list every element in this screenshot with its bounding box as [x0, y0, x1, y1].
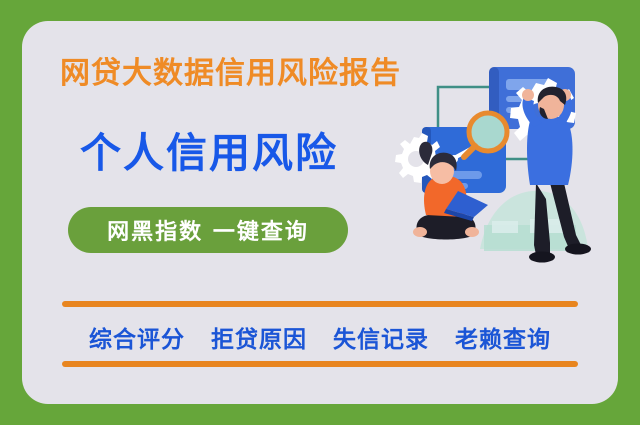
credit-risk-poster: 网贷大数据信用风险报告 个人信用风险 网黑指数 一键查询 综合评分 拒贷原因 失…: [0, 0, 640, 425]
query-cta-label: 网黑指数 一键查询: [107, 214, 309, 246]
page-title: 网贷大数据信用风险报告: [60, 59, 401, 89]
poster-card: 网贷大数据信用风险报告 个人信用风险 网黑指数 一键查询 综合评分 拒贷原因 失…: [22, 21, 618, 404]
feature-list: 综合评分 拒贷原因 失信记录 老赖查询: [62, 315, 578, 359]
divider-bottom: [62, 361, 578, 367]
page-subtitle: 个人信用风险: [80, 133, 338, 174]
feature-item-score[interactable]: 综合评分: [89, 320, 185, 354]
data-analysis-illustration: [384, 49, 614, 281]
query-cta-button[interactable]: 网黑指数 一键查询: [68, 207, 348, 253]
feature-item-default-record[interactable]: 失信记录: [333, 320, 429, 354]
divider-top: [62, 301, 578, 307]
feature-item-rejection-reason[interactable]: 拒贷原因: [211, 320, 307, 354]
feature-item-debtor-lookup[interactable]: 老赖查询: [455, 320, 551, 354]
